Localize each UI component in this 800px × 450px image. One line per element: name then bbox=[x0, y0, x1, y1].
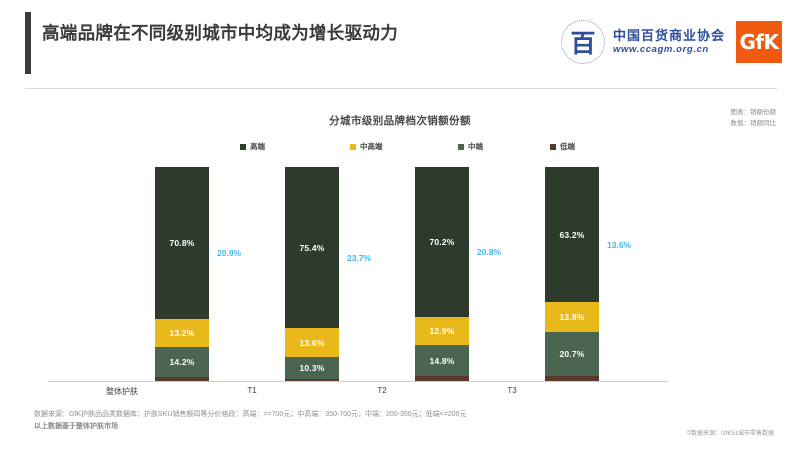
legend-swatch-icon bbox=[550, 144, 556, 150]
legend-item-1[interactable]: 中高端 bbox=[350, 141, 383, 152]
bar-segment-label: 13.2% bbox=[169, 328, 194, 338]
ccagm-text-block: 中国百货商业协会 www.ccagm.org.cn bbox=[613, 28, 725, 56]
page-title: 高端品牌在不同级别城市中均成为增长驱动力 bbox=[42, 20, 522, 46]
x-axis-label-T3: T3 bbox=[467, 386, 557, 395]
bar-segment-高端: 63.2% bbox=[545, 167, 599, 302]
bar-segment-label: 14.8% bbox=[429, 356, 454, 366]
yoy-label-整体护肤: 20.9% bbox=[217, 248, 241, 258]
chart-note-box: 图表：销额份额 数值：销额同比 bbox=[731, 107, 777, 129]
gfk-logo: GfK bbox=[736, 21, 782, 63]
ccagm-org-name: 中国百货商业协会 bbox=[613, 28, 725, 44]
bar-segment-label: 13.8% bbox=[559, 312, 584, 322]
legend-item-0[interactable]: 高端 bbox=[240, 141, 265, 152]
bar-segment-label: 14.2% bbox=[169, 357, 194, 367]
header-divider bbox=[25, 88, 777, 89]
ccagm-emblem-icon: 百 bbox=[560, 19, 606, 65]
legend-swatch-icon bbox=[458, 144, 464, 150]
bar-segment-高端: 70.8% bbox=[155, 167, 209, 319]
bar-segment-label: 20.7% bbox=[559, 349, 584, 359]
chart-note-line-1: 图表：销额份额 bbox=[731, 107, 777, 118]
legend-item-2[interactable]: 中端 bbox=[458, 141, 483, 152]
chart-note-line-2: 数值：销额同比 bbox=[731, 118, 777, 129]
x-axis-label-T1: T1 bbox=[207, 386, 297, 395]
source-note: ©数据来源：GfK51城市零售数据 bbox=[687, 428, 774, 437]
bar-segment-label: 12.9% bbox=[429, 326, 454, 336]
bar-segment-label: 70.8% bbox=[169, 238, 194, 248]
footnote-line-1: 数据来源：GfK护肤品品类数据库；护肤SKU销售额四等分价格段：高端：>=700… bbox=[34, 409, 734, 421]
bar-segment-label: 13.6% bbox=[299, 338, 324, 348]
bar-segment-中高端: 13.8% bbox=[545, 302, 599, 332]
legend-swatch-icon bbox=[240, 144, 246, 150]
legend-label: 中高端 bbox=[360, 141, 383, 152]
x-axis-label-整体护肤: 整体护肤 bbox=[77, 386, 167, 397]
bar-整体护肤[interactable]: 70.8%13.2%14.2% bbox=[155, 167, 209, 381]
chart-title: 分城市级别品牌档次销额份额 bbox=[0, 113, 800, 128]
bar-segment-中高端: 12.9% bbox=[415, 317, 469, 345]
bar-segment-中端: 10.3% bbox=[285, 357, 339, 379]
footnote-line-2: 以上数据基于整体护肤市场 bbox=[34, 421, 734, 433]
title-accent-bar bbox=[25, 12, 31, 74]
bar-T2[interactable]: 70.2%12.9%14.8% bbox=[415, 167, 469, 381]
bar-T3[interactable]: 63.2%13.8%20.7% bbox=[545, 167, 599, 381]
legend-label: 高端 bbox=[250, 141, 265, 152]
yoy-label-T1: 23.7% bbox=[347, 253, 371, 263]
slide-header: 高端品牌在不同级别城市中均成为增长驱动力 百 中国百货商业协会 www.ccag… bbox=[0, 0, 800, 88]
bar-segment-中端: 14.8% bbox=[415, 345, 469, 377]
ccagm-emblem-glyph: 百 bbox=[560, 19, 606, 65]
bar-segment-高端: 70.2% bbox=[415, 167, 469, 317]
x-axis-line bbox=[48, 381, 668, 382]
bar-segment-label: 70.2% bbox=[429, 237, 454, 247]
bar-segment-中高端: 13.2% bbox=[155, 319, 209, 347]
yoy-label-T2: 20.8% bbox=[477, 247, 501, 257]
bar-segment-中端: 20.7% bbox=[545, 332, 599, 376]
footnote-block: 数据来源：GfK护肤品品类数据库；护肤SKU销售额四等分价格段：高端：>=700… bbox=[34, 409, 734, 433]
ccagm-url: www.ccagm.org.cn bbox=[613, 44, 725, 56]
legend-label: 低端 bbox=[560, 141, 575, 152]
bar-segment-label: 10.3% bbox=[299, 363, 324, 373]
bar-segment-label: 75.4% bbox=[299, 243, 324, 253]
bar-segment-中高端: 13.6% bbox=[285, 328, 339, 357]
legend-swatch-icon bbox=[350, 144, 356, 150]
chart-plot-area: 70.8%13.2%14.2%20.9%75.4%13.6%10.3%23.7%… bbox=[60, 167, 740, 381]
bar-T1[interactable]: 75.4%13.6%10.3% bbox=[285, 167, 339, 381]
bar-segment-高端: 75.4% bbox=[285, 167, 339, 328]
x-axis-label-T2: T2 bbox=[337, 386, 427, 395]
bar-segment-label: 63.2% bbox=[559, 230, 584, 240]
logo-group: 百 中国百货商业协会 www.ccagm.org.cn GfK bbox=[560, 16, 782, 68]
bar-segment-中端: 14.2% bbox=[155, 347, 209, 377]
slide: 高端品牌在不同级别城市中均成为增长驱动力 百 中国百货商业协会 www.ccag… bbox=[0, 0, 800, 450]
legend-label: 中端 bbox=[468, 141, 483, 152]
yoy-label-T3: 13.6% bbox=[607, 240, 631, 250]
legend-item-3[interactable]: 低端 bbox=[550, 141, 575, 152]
chart-legend: 高端中高端中端低端 bbox=[240, 141, 580, 155]
